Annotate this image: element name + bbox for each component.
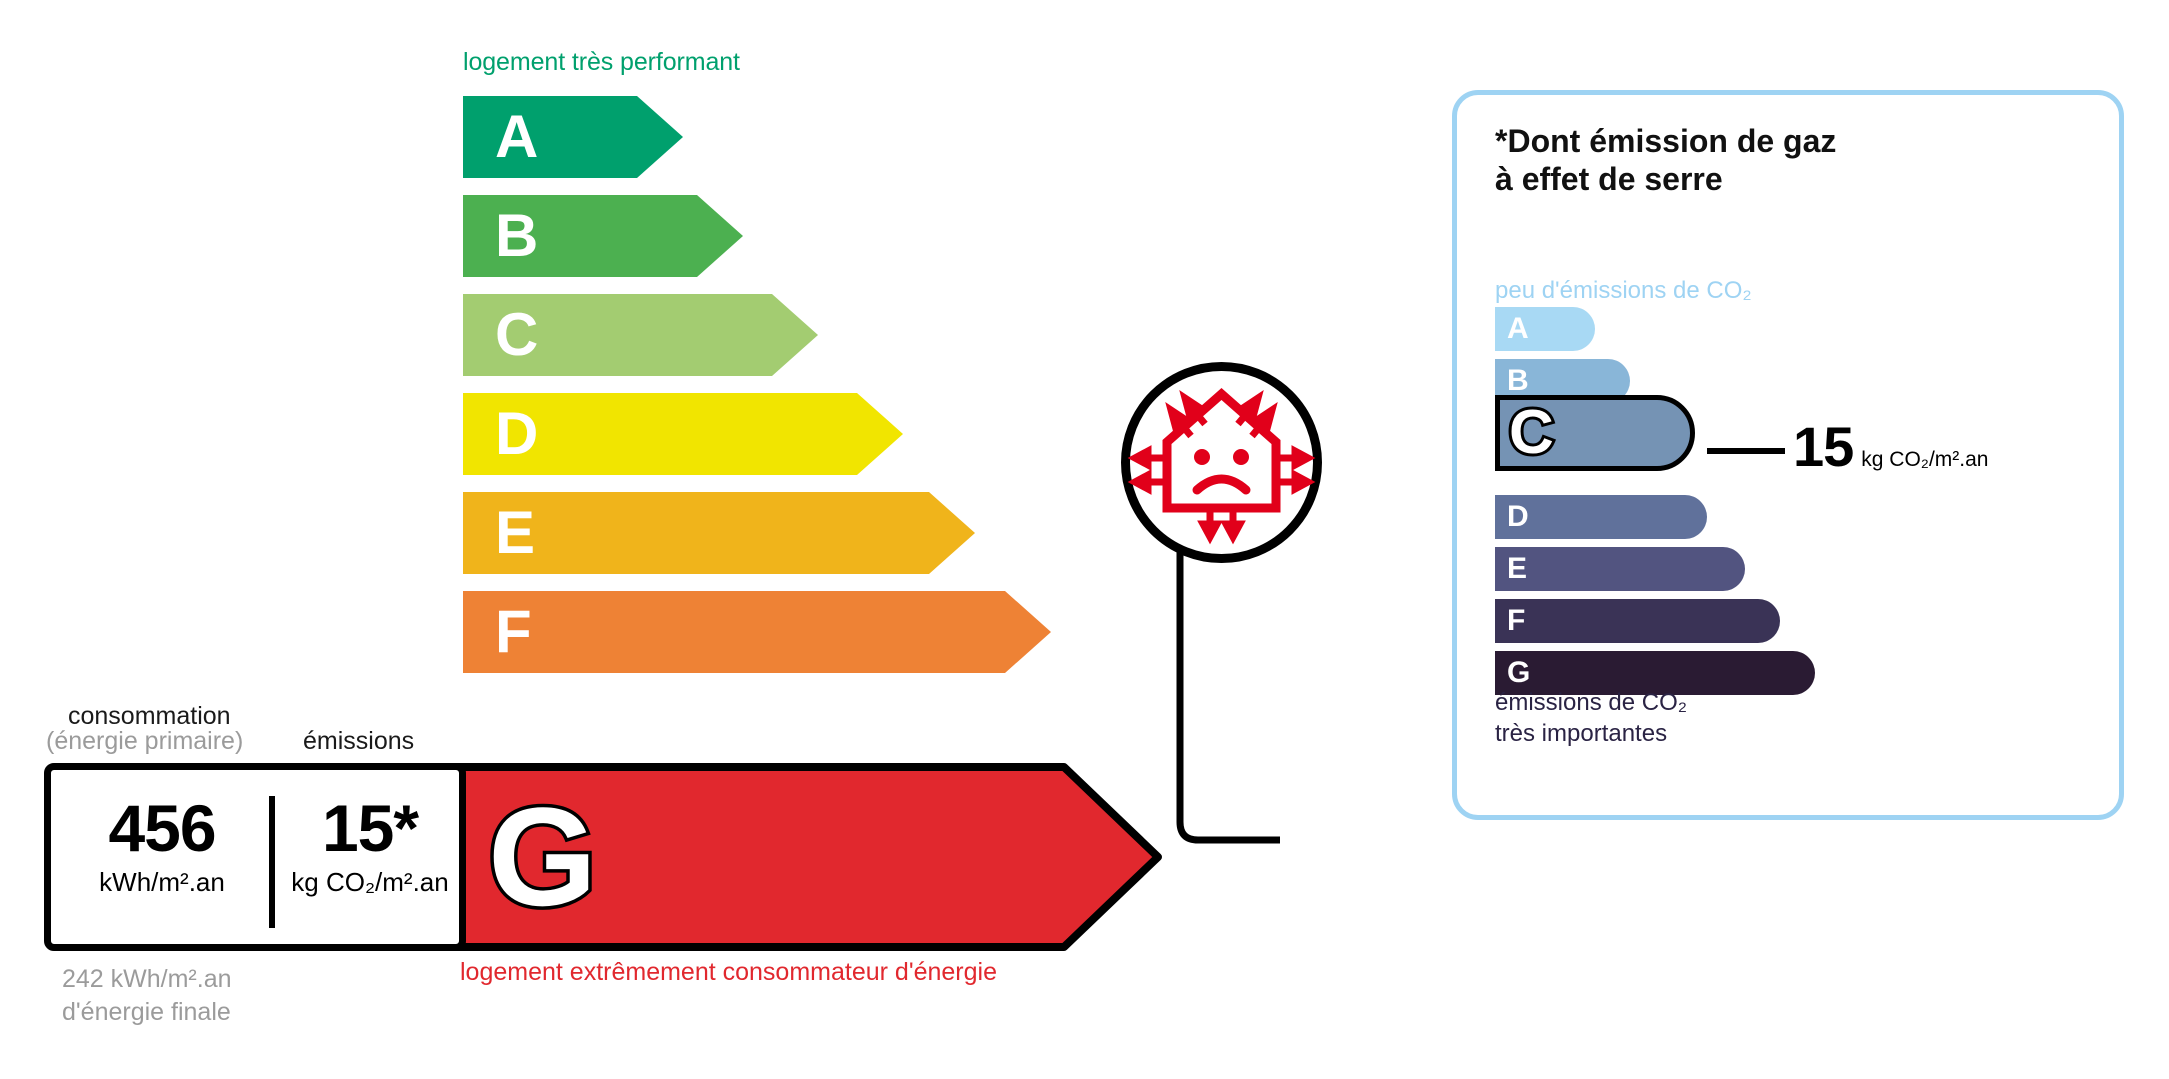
co2-callout: 15kg CO₂/m².an [1707, 419, 1988, 475]
co2-top-caption: peu d'émissions de CO₂ [1495, 277, 1752, 305]
energy-class-letter-f: F [495, 602, 532, 662]
emission-value: 15* [279, 794, 461, 863]
energy-class-letter-b: B [495, 206, 538, 266]
label-energie-primaire: (énergie primaire) [46, 727, 243, 756]
energy-scale-bottom-label: logement extrêmement consommateur d'éner… [460, 958, 997, 987]
consumption-value: 456 [59, 794, 265, 863]
co2-class-letter-g: G [1507, 658, 1530, 688]
energy-scale-panel: logement très performant ABCDEF consomma… [0, 0, 1340, 1079]
sad-house-heat-loss-icon [1119, 360, 1324, 565]
consumption-unit: kWh/m².an [59, 867, 265, 898]
energy-bar-e [463, 492, 975, 574]
value-box: 456 kWh/m².an 15* kg CO₂/m².an [44, 763, 466, 951]
energy-class-row-g: G [444, 763, 1164, 951]
co2-class-letter-f: F [1507, 606, 1525, 636]
co2-bar-e [1495, 547, 1745, 591]
energy-class-letter-c: C [495, 305, 538, 365]
co2-callout-line [1707, 448, 1785, 454]
co2-class-letter-e: E [1507, 554, 1527, 584]
emission-unit: kg CO₂/m².an [279, 867, 461, 898]
co2-panel: *Dont émission de gaz à effet de serre p… [1452, 90, 2124, 820]
dpe-label: logement très performant ABCDEF consomma… [0, 0, 2169, 1079]
value-box-divider [269, 796, 275, 928]
consumption-value-cell: 456 kWh/m².an [59, 794, 265, 898]
energy-scale-top-label: logement très performant [463, 48, 740, 77]
leader-line [1150, 540, 1280, 850]
energy-bar-f [463, 591, 1051, 673]
co2-class-letter-a: A [1507, 314, 1529, 344]
energy-class-letter-d: D [495, 404, 538, 464]
co2-bottom-caption: émissions de CO₂ très importantes [1495, 687, 1687, 749]
co2-class-letter-d: D [1507, 502, 1529, 532]
emission-value-cell: 15* kg CO₂/m².an [279, 794, 461, 898]
label-emissions: émissions [303, 727, 414, 756]
co2-class-letter-c: C [1509, 402, 1554, 464]
co2-callout-unit: kg CO₂/m².an [1861, 448, 1988, 472]
energy-class-letter-a: A [495, 107, 538, 167]
final-energy-note: 242 kWh/m².an d'énergie finale [62, 963, 232, 1029]
energy-class-letter-e: E [495, 503, 535, 563]
co2-class-letter-b: B [1507, 366, 1529, 396]
energy-class-letter-g: G [488, 787, 597, 927]
co2-callout-value: 15 [1793, 419, 1853, 475]
co2-bar-f [1495, 599, 1780, 643]
co2-panel-title: *Dont émission de gaz à effet de serre [1495, 123, 1836, 199]
